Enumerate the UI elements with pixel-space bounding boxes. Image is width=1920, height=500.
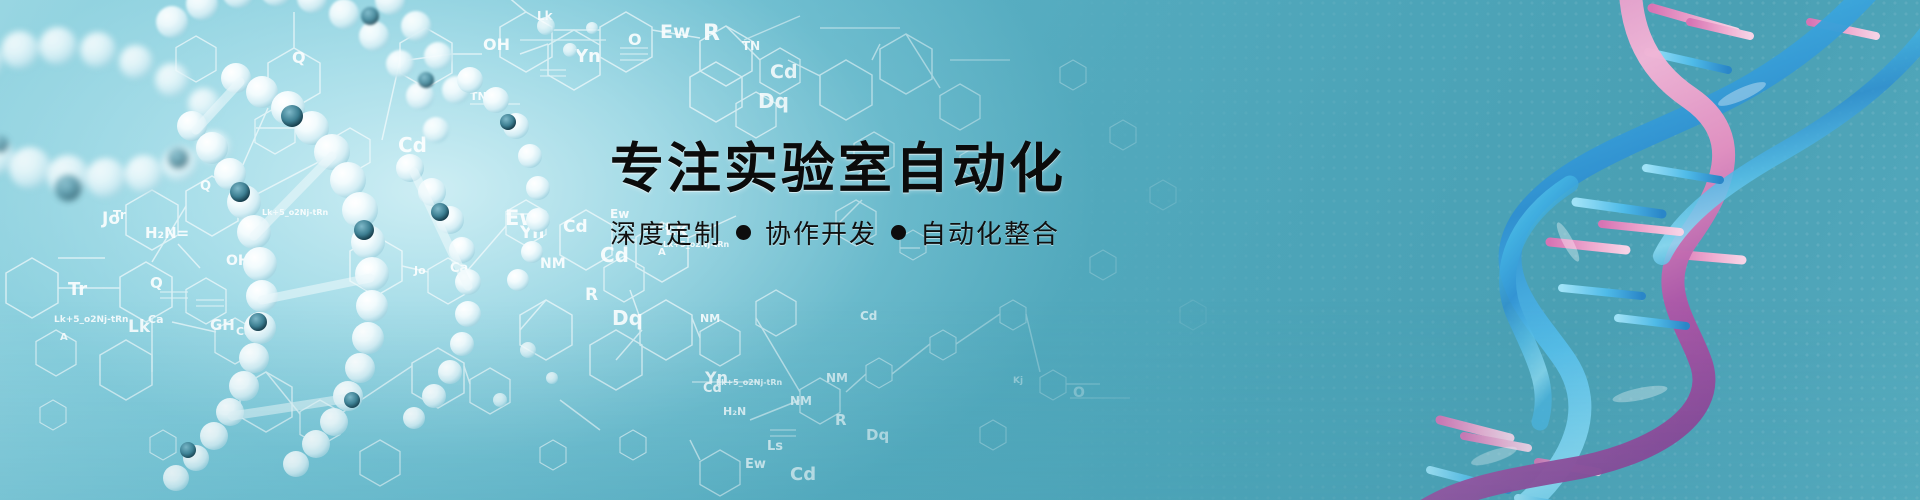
bullet-separator-icon [736, 225, 751, 240]
chem-label: Ew [660, 21, 691, 43]
chem-label: TN [742, 39, 760, 53]
chem-label: OH [226, 253, 250, 269]
chem-label: Dq [612, 306, 643, 330]
dna-double-helix [1390, 0, 1920, 500]
chem-label: Tr [113, 208, 126, 222]
chem-label: Ca [236, 325, 252, 338]
chem-label: Cd [563, 217, 588, 237]
chem-label: Ew [745, 457, 766, 472]
chem-label: Cd [703, 381, 722, 396]
chem-label: Lk+5_o2Nj-tRn [54, 315, 128, 325]
chem-label: Cd [398, 133, 427, 157]
chem-label: Lk [240, 229, 261, 247]
chem-label: NM [700, 312, 720, 325]
chem-label: Lk [537, 9, 554, 23]
subtitle-part-2: 协作开发 [765, 214, 877, 251]
chem-label: Jo [101, 209, 120, 229]
banner-text-block: 专注实验室自动化 深度定制 协作开发 自动化整合 [610, 140, 1310, 251]
chem-label: Q [200, 179, 211, 194]
chem-label: NM [790, 394, 812, 408]
chem-label: H₂N [723, 405, 746, 418]
chem-label: R [585, 285, 598, 305]
chem-label: Yn [519, 223, 544, 243]
chem-label: Lk [128, 317, 151, 337]
chem-label: Yn [574, 46, 601, 67]
chem-label: Cd [860, 309, 877, 323]
chem-label: Ew [505, 206, 539, 230]
chem-label: GH [210, 316, 235, 334]
chem-label: O [1073, 385, 1085, 401]
chem-label: Lk+5_o2Nj-tRn [262, 208, 328, 217]
pearl-dna-cluster [0, 0, 700, 500]
chem-label: Ca [148, 313, 164, 326]
chem-label: R [703, 21, 720, 46]
chem-label: H₂N= [145, 224, 189, 242]
banner-headline: 专注实验室自动化 [610, 140, 1310, 198]
chem-label: OH [483, 35, 510, 54]
banner-subtitle: 深度定制 协作开发 自动化整合 [610, 214, 1310, 251]
chem-label: Dq [758, 89, 789, 113]
chem-label: NM [826, 371, 848, 385]
chem-label: Jo [413, 264, 426, 277]
chem-label: Tr [68, 279, 87, 300]
chem-label: Ca [450, 261, 468, 276]
chem-label: A [60, 332, 68, 343]
chem-label: Cd [790, 464, 816, 485]
chem-label: Kj [1013, 376, 1023, 386]
chem-label: R [835, 411, 847, 429]
chem-label: Q [150, 274, 163, 292]
chem-label: NM [540, 256, 566, 272]
chem-label: Dq [866, 426, 889, 444]
subtitle-part-1: 深度定制 [610, 214, 722, 251]
chem-label: Cd [770, 61, 798, 83]
chem-label: Ea [230, 189, 246, 203]
chem-label: Yn [704, 368, 728, 387]
chem-label: Ls [767, 439, 783, 454]
chem-label: Lk+5_o2Nj-tRn [716, 378, 782, 387]
lab-automation-banner: CdCdCdCdCdCdCdYnYnYnEwEwEwEwLkLkLkLkLsNM… [0, 0, 1920, 500]
subtitle-part-3: 自动化整合 [920, 214, 1060, 251]
chem-label: O [628, 30, 642, 49]
chem-label: TN [470, 90, 487, 103]
chem-label: Sv [356, 340, 372, 353]
bullet-separator-icon [891, 225, 906, 240]
chem-label: Q [292, 48, 306, 67]
